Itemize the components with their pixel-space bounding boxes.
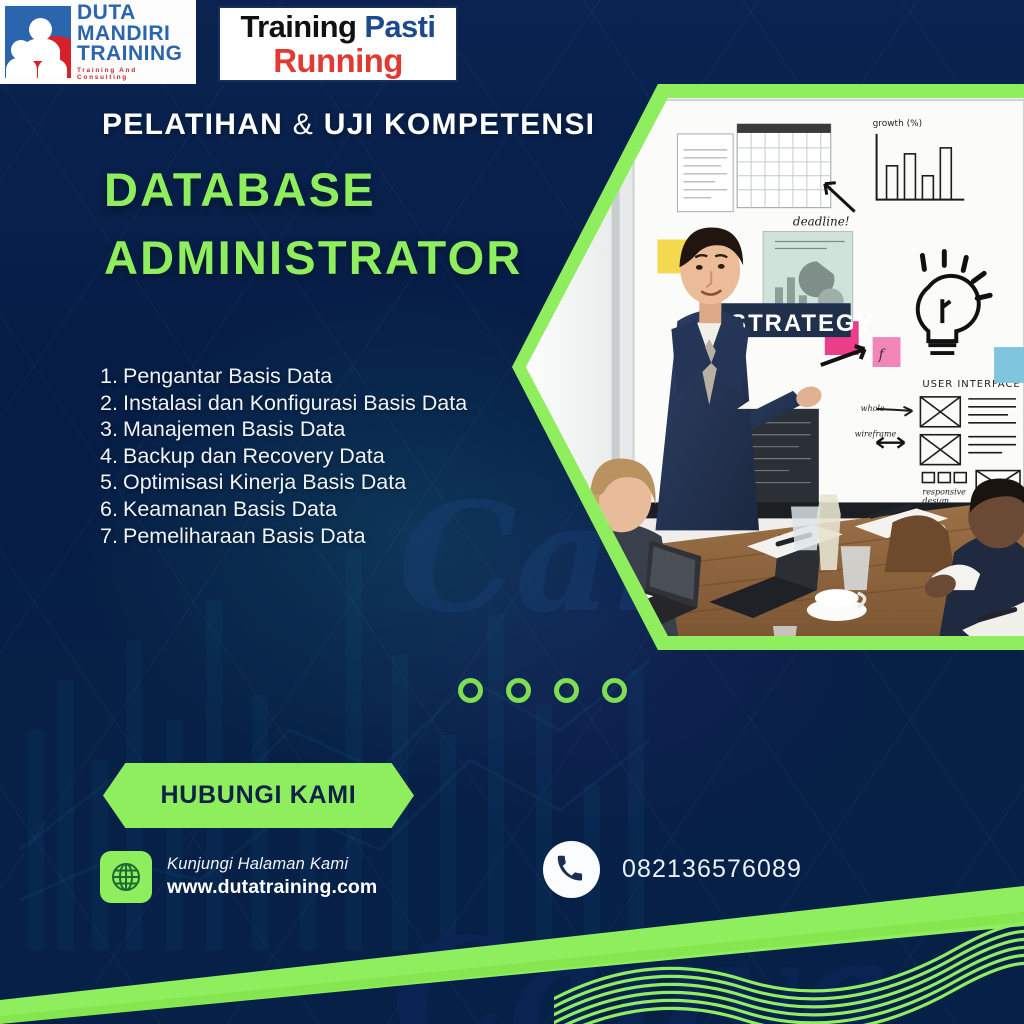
list-item: 1. Pengantar Basis Data bbox=[100, 363, 467, 390]
poster-canvas: Canva Canva bbox=[0, 0, 1024, 1024]
list-item-number: 5. bbox=[100, 469, 123, 496]
list-item-label: Pengantar Basis Data bbox=[123, 363, 332, 390]
contact-us-label: HUBUNGI KAMI bbox=[161, 781, 357, 810]
logo-tagline: Training And Consulting bbox=[77, 67, 190, 81]
list-item: 4. Backup dan Recovery Data bbox=[100, 443, 467, 470]
topic-list: 1. Pengantar Basis Data 2. Instalasi dan… bbox=[100, 363, 467, 549]
logo-line-3: TRAINING bbox=[77, 44, 190, 64]
svg-text:whole: whole bbox=[861, 404, 885, 413]
contact-us-button[interactable]: HUBUNGI KAMI bbox=[103, 763, 414, 828]
circle-outline-icon bbox=[458, 678, 483, 703]
kicker-ampersand: & bbox=[293, 108, 314, 141]
list-item-number: 1. bbox=[100, 363, 123, 390]
list-item-number: 2. bbox=[100, 390, 123, 417]
list-item-label: Instalasi dan Konfigurasi Basis Data bbox=[123, 390, 467, 417]
circle-outline-icon bbox=[506, 678, 531, 703]
badge-word-pasti: Pasti bbox=[364, 9, 435, 44]
list-item-number: 6. bbox=[100, 496, 123, 523]
list-item: 2. Instalasi dan Konfigurasi Basis Data bbox=[100, 390, 467, 417]
list-item: 6. Keamanan Basis Data bbox=[100, 496, 467, 523]
list-item: 3. Manajemen Basis Data bbox=[100, 416, 467, 443]
list-item-number: 7. bbox=[100, 523, 123, 550]
svg-text:wireframe: wireframe bbox=[855, 430, 897, 439]
list-item-number: 4. bbox=[100, 443, 123, 470]
company-logo: DUTA MANDIRI TRAINING Training And Consu… bbox=[0, 0, 196, 84]
logo-line-1: DUTA bbox=[77, 3, 190, 23]
page-title-line-2: ADMINISTRATOR bbox=[104, 230, 523, 285]
list-item-label: Manajemen Basis Data bbox=[123, 416, 345, 443]
svg-text:STRATEGY: STRATEGY bbox=[730, 310, 874, 337]
list-item-label: Optimisasi Kinerja Basis Data bbox=[123, 469, 406, 496]
list-item-label: Pemeliharaan Basis Data bbox=[123, 523, 366, 550]
badge-word-training: Training bbox=[241, 9, 357, 44]
decorative-dots bbox=[458, 678, 627, 703]
kicker-before: PELATIHAN bbox=[102, 108, 283, 141]
svg-text:growth (%): growth (%) bbox=[873, 119, 923, 129]
list-item: 7. Pemeliharaan Basis Data bbox=[100, 523, 467, 550]
circle-outline-icon bbox=[602, 678, 627, 703]
page-title-line-1: DATABASE bbox=[104, 162, 376, 217]
list-item: 5. Optimisasi Kinerja Basis Data bbox=[100, 469, 467, 496]
list-item-number: 3. bbox=[100, 416, 123, 443]
training-pasti-running-badge: Training Pasti Running bbox=[218, 6, 458, 82]
hero-photo-hexagon: growth (%) deadline! f bbox=[512, 84, 1024, 650]
svg-text:responsive: responsive bbox=[922, 487, 966, 496]
logo-line-2: MANDIRI bbox=[77, 24, 190, 44]
hero-photo: growth (%) deadline! f bbox=[526, 98, 1024, 636]
svg-text:deadline!: deadline! bbox=[793, 215, 850, 229]
people-group-icon bbox=[5, 6, 71, 78]
list-item-label: Backup dan Recovery Data bbox=[123, 443, 385, 470]
badge-word-running: Running bbox=[273, 44, 403, 77]
kicker-after: UJI KOMPETENSI bbox=[324, 108, 596, 141]
page-kicker: PELATIHAN & UJI KOMPETENSI bbox=[102, 108, 595, 142]
circle-outline-icon bbox=[554, 678, 579, 703]
bottom-wave-lines bbox=[554, 894, 1024, 1024]
list-item-label: Keamanan Basis Data bbox=[123, 496, 337, 523]
